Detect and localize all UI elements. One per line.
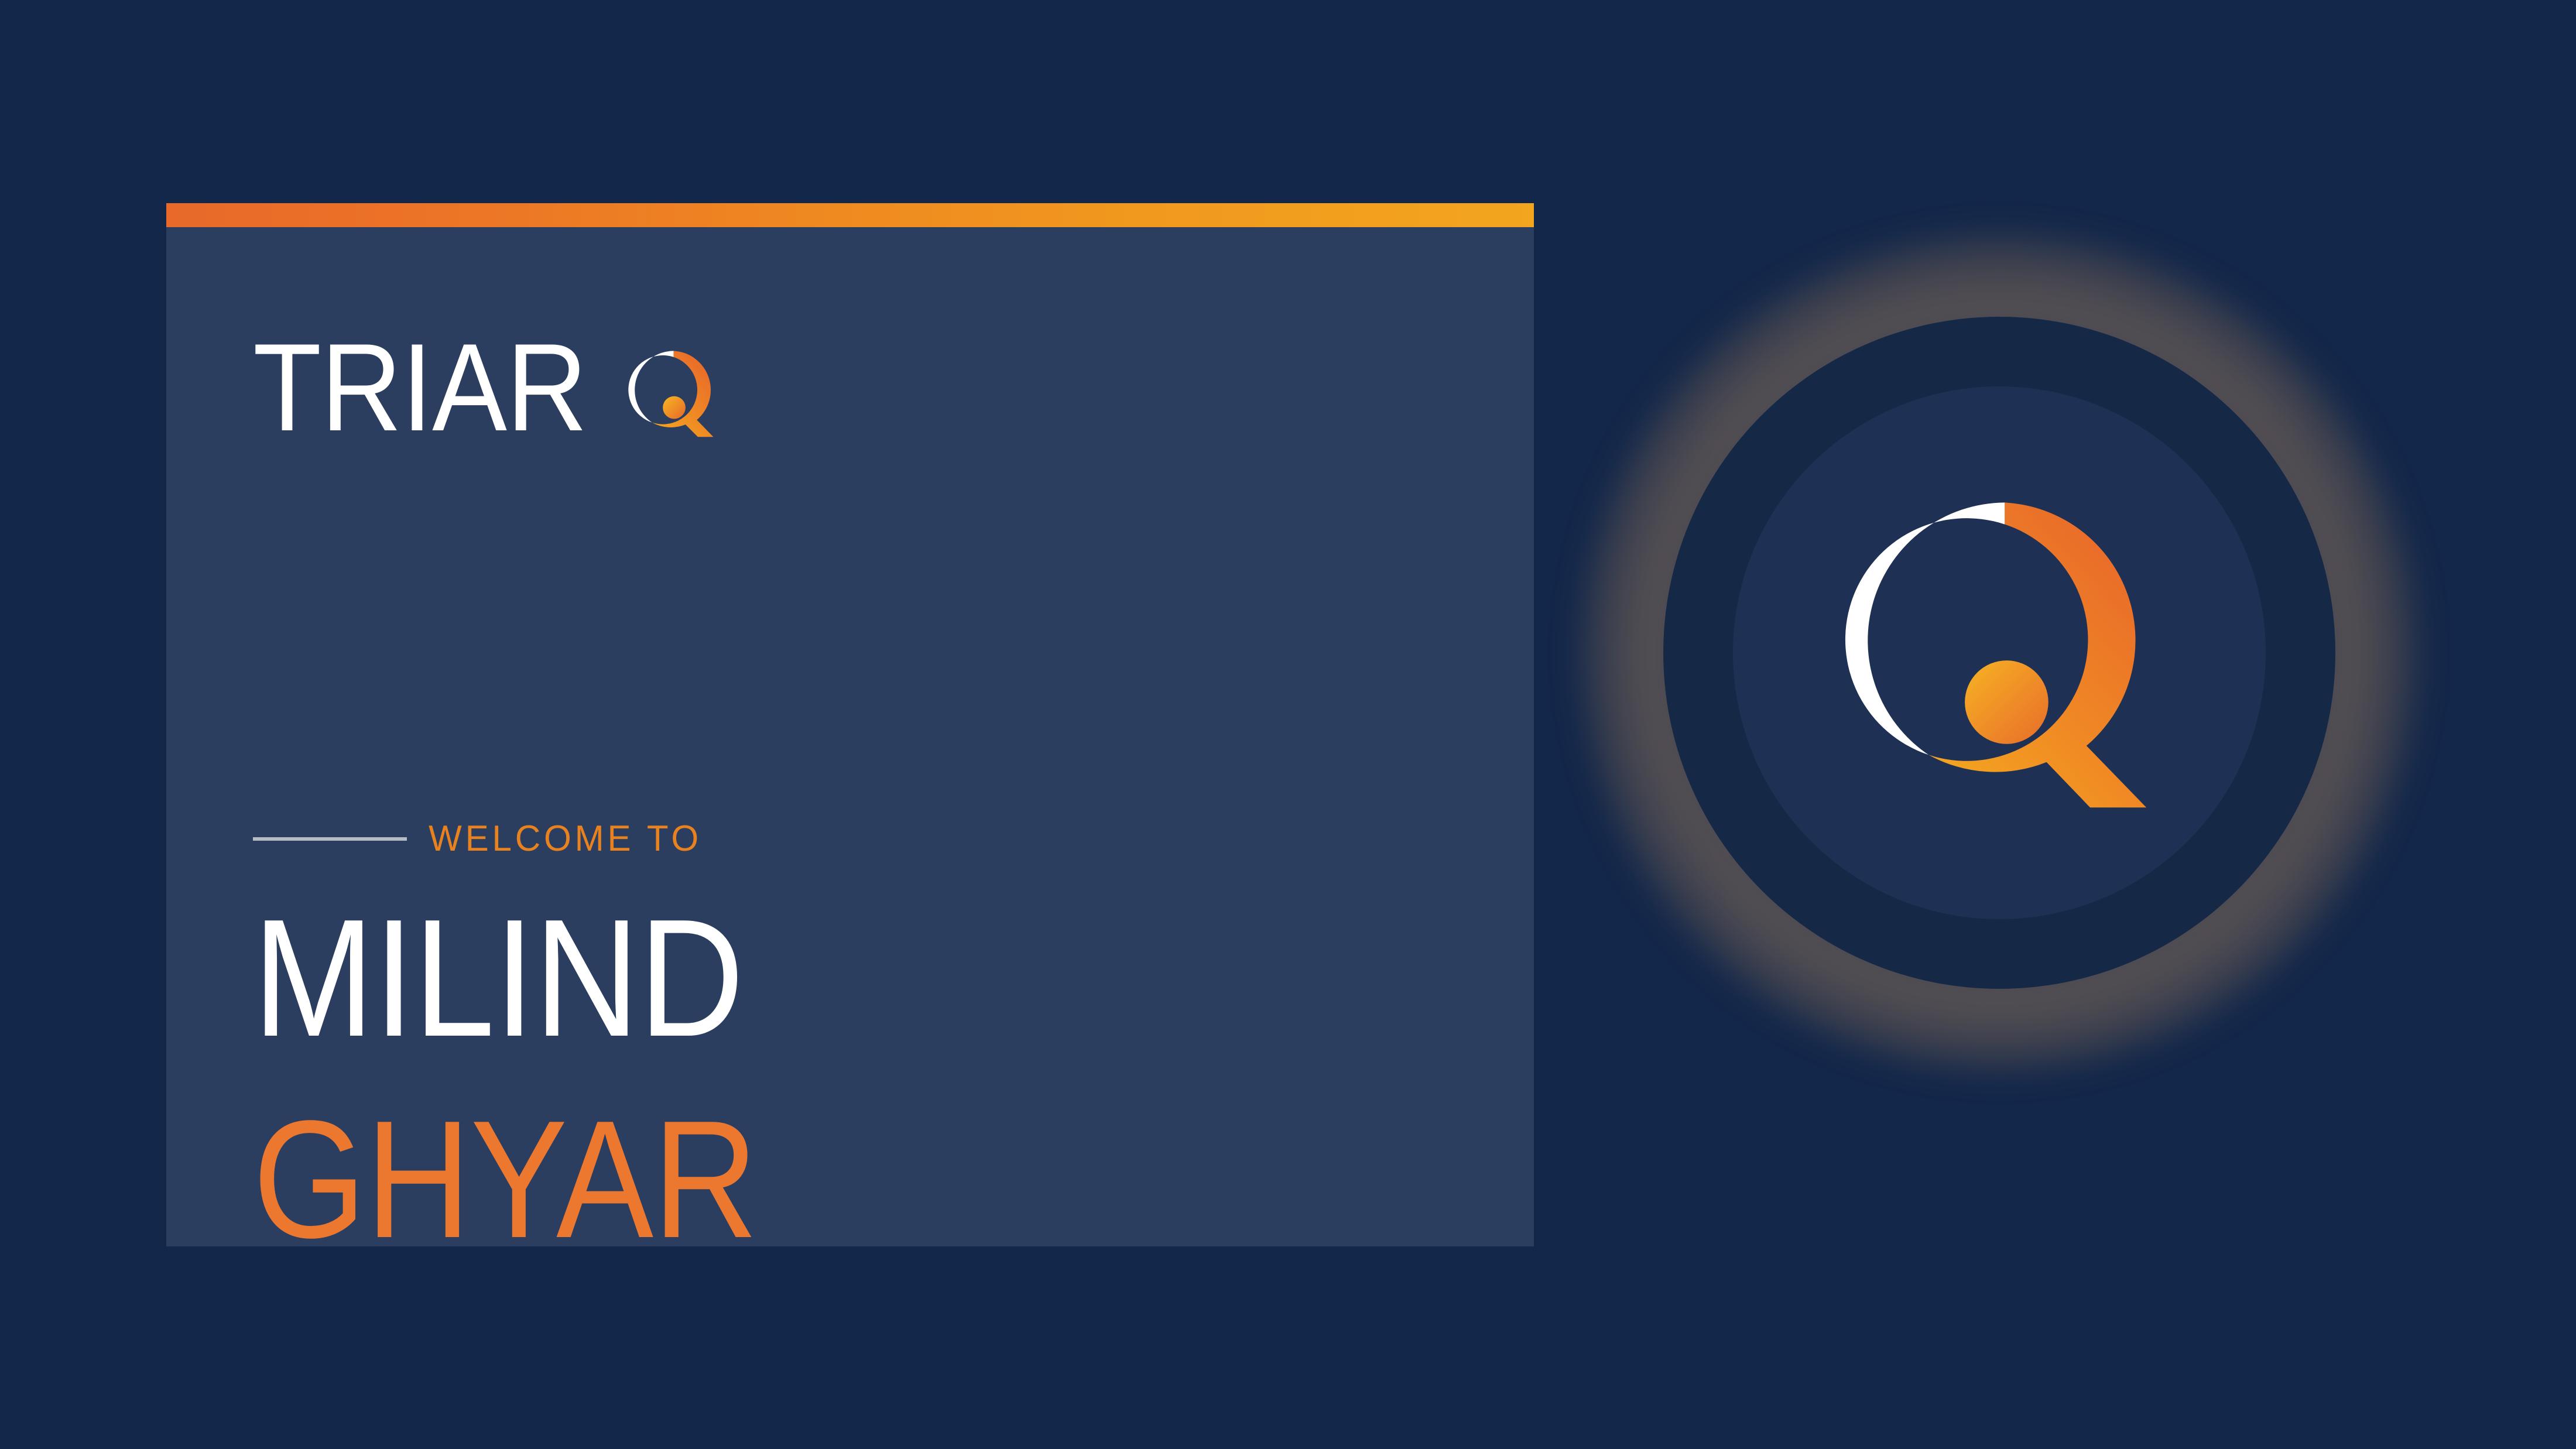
- person-last-name: GHYAR: [253, 1095, 1272, 1263]
- welcome-divider-rule: [253, 837, 407, 841]
- gradient-accent-bar: [166, 203, 1534, 227]
- welcome-card: TRIAR: [166, 203, 1534, 1246]
- triarq-q-emblem: [1581, 234, 2418, 1071]
- triarq-logo: TRIAR: [253, 339, 724, 436]
- person-first-name: MILIND: [253, 894, 1272, 1061]
- triarq-q-icon: [621, 344, 724, 450]
- person-name-block: MILIND GHYAR: [253, 894, 1424, 1263]
- brand-wordmark-text: TRIAR: [253, 339, 587, 436]
- welcome-eyebrow: WELCOME TO: [253, 821, 710, 857]
- welcome-label: WELCOME TO: [429, 821, 702, 857]
- emblem-q-icon: [1818, 477, 2181, 840]
